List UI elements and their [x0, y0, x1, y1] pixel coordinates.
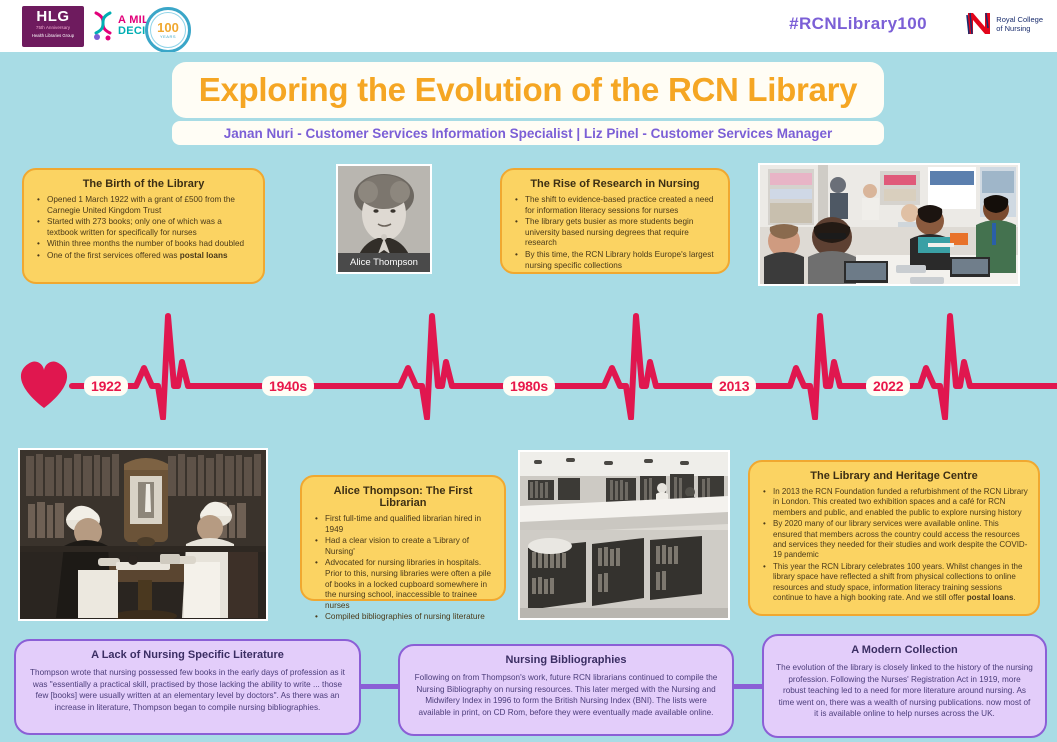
list-item: By this time, the RCN Library holds Euro… — [523, 250, 718, 271]
authors-line: Janan Nuri - Customer Services Informati… — [224, 126, 832, 141]
rcn-line-1: Royal College — [996, 15, 1043, 24]
hlg-logo-group: Health Libraries Group — [22, 33, 84, 39]
box-body: Thompson wrote that nursing possessed fe… — [28, 667, 347, 713]
royal-college-of-nursing-logo: Royal College of Nursing — [966, 10, 1043, 37]
box-title: The Rise of Research in Nursing — [512, 178, 718, 190]
info-box-birth-of-the-library: The Birth of the Library Opened 1 March … — [22, 168, 265, 284]
info-box-library-heritage-centre: The Library and Heritage Centre In 2013 … — [748, 460, 1040, 616]
page-title: Exploring the Evolution of the RCN Libra… — [199, 71, 857, 109]
list-item: One of the first services offered was po… — [45, 251, 253, 262]
box-title: The Library and Heritage Centre — [760, 470, 1028, 482]
list-item: Compiled bibliographies of nursing liter… — [323, 612, 494, 623]
poster-title-card: Exploring the Evolution of the RCN Libra… — [172, 62, 884, 118]
rcn-line-2: of Nursing — [996, 24, 1043, 33]
list-item: Within three months the number of books … — [45, 239, 253, 250]
list-item: In 2013 the RCN Foundation funded a refu… — [771, 487, 1028, 518]
list-item: Advocated for nursing libraries in hospi… — [323, 558, 494, 611]
rcn-crown-icon — [966, 10, 992, 37]
photo-modern-library — [758, 163, 1020, 286]
list-item: The library gets busier as more students… — [523, 217, 718, 249]
list-item: First full-time and qualified librarian … — [323, 514, 494, 535]
box-title: A Lack of Nursing Specific Literature — [28, 649, 347, 661]
list-item: Had a clear vision to create a 'Library … — [323, 536, 494, 557]
list-item: By 2020 many of our library services wer… — [771, 519, 1028, 561]
bullet-list: First full-time and qualified librarian … — [312, 514, 494, 623]
list-item: This year the RCN Library celebrates 100… — [771, 562, 1028, 604]
timeline-year-2022: 2022 — [866, 376, 910, 396]
timeline-year-2013: 2013 — [712, 376, 756, 396]
heart-icon — [16, 358, 72, 410]
photo-library-stacks — [518, 450, 730, 620]
hlg-logo-name: HLG — [22, 9, 84, 24]
header-bar: HLG 75th Anniversary Health Libraries Gr… — [0, 0, 1057, 52]
poster-subtitle-card: Janan Nuri - Customer Services Informati… — [172, 121, 884, 145]
bullet-list: The shift to evidence-based practice cre… — [512, 195, 718, 271]
bullet-list: In 2013 the RCN Foundation funded a refu… — [760, 487, 1028, 603]
box-body: Following on from Thompson's work, futur… — [412, 672, 720, 718]
box-title: Nursing Bibliographies — [412, 654, 720, 666]
photo-caption: Alice Thompson — [338, 253, 430, 272]
info-box-alice-thompson: Alice Thompson: The First Librarian Firs… — [300, 475, 506, 601]
list-item: Started with 273 books; only one of whic… — [45, 217, 253, 238]
poster-root: HLG 75th Anniversary Health Libraries Gr… — [0, 0, 1057, 742]
connector-line-right — [734, 684, 764, 689]
photo-historic-nurses — [18, 448, 268, 621]
photo-alice-thompson-portrait: Alice Thompson — [336, 164, 432, 274]
box-title: The Birth of the Library — [34, 178, 253, 190]
box-body: The evolution of the library is closely … — [776, 662, 1033, 720]
connector-line-left — [361, 684, 400, 689]
rcn-library-100-badge: 100 YEARS — [145, 7, 191, 53]
box-title: Alice Thompson: The First Librarian — [312, 485, 494, 509]
list-item: Opened 1 March 1922 with a grant of £500… — [45, 195, 253, 216]
heartbeat-timeline — [0, 300, 1057, 420]
box-title: A Modern Collection — [776, 644, 1033, 656]
timeline-year-1940s: 1940s — [262, 376, 314, 396]
hashtag-label: #RCNLibrary100 — [789, 14, 927, 34]
timeline-year-1980s: 1980s — [503, 376, 555, 396]
info-box-nursing-bibliographies: Nursing Bibliographies Following on from… — [398, 644, 734, 736]
dna-helix-icon — [92, 11, 114, 41]
list-item: The shift to evidence-based practice cre… — [523, 195, 718, 216]
badge-ring — [150, 12, 186, 48]
info-box-rise-of-research: The Rise of Research in Nursing The shif… — [500, 168, 730, 274]
bullet-list: Opened 1 March 1922 with a grant of £500… — [34, 195, 253, 262]
info-box-modern-collection: A Modern Collection The evolution of the… — [762, 634, 1047, 738]
rcn-wordmark: Royal College of Nursing — [996, 15, 1043, 33]
hlg-logo: HLG 75th Anniversary Health Libraries Gr… — [22, 6, 84, 47]
info-box-lack-of-literature: A Lack of Nursing Specific Literature Th… — [14, 639, 361, 735]
hlg-logo-anniversary: 75th Anniversary — [22, 24, 84, 31]
timeline-year-1922: 1922 — [84, 376, 128, 396]
